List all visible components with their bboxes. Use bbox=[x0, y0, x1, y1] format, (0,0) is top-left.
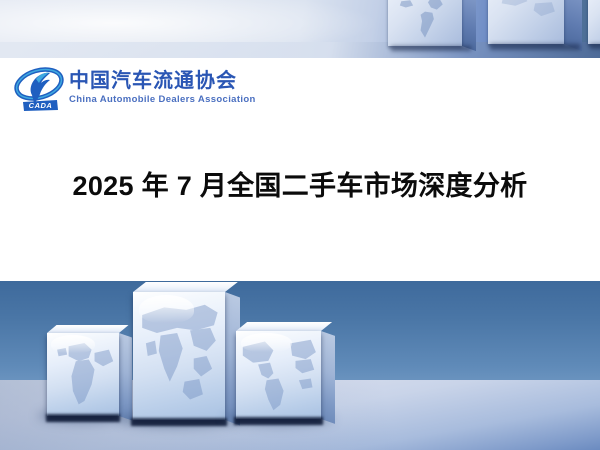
box-gloss-highlight bbox=[139, 295, 194, 323]
decorative-box-left bbox=[47, 333, 119, 416]
cada-abbr-badge: CADA bbox=[23, 100, 58, 111]
box-top-face bbox=[133, 282, 238, 292]
decorative-cube-top-left bbox=[388, 0, 462, 46]
organization-name-cn: 中国汽车流通协会 bbox=[69, 70, 256, 92]
box-gloss-highlight bbox=[241, 333, 292, 352]
decorative-box-right bbox=[236, 331, 321, 419]
cada-emblem-icon: CADA bbox=[14, 64, 64, 112]
organization-name-en: China Automobile Dealers Association bbox=[69, 94, 256, 106]
cube-side-face bbox=[462, 0, 476, 51]
box-base-edge bbox=[46, 414, 121, 422]
box-side-face bbox=[119, 333, 132, 420]
world-map-texture bbox=[488, 0, 564, 44]
organization-logo: CADA 中国汽车流通协会 China Automobile Dealers A… bbox=[14, 64, 256, 112]
decorative-box-center bbox=[133, 292, 225, 420]
cube-front-face bbox=[588, 0, 600, 44]
slide-body: CADA 中国汽车流通协会 China Automobile Dealers A… bbox=[0, 58, 600, 281]
presentation-slide: CADA 中国汽车流通协会 China Automobile Dealers A… bbox=[0, 0, 600, 450]
cube-shadow bbox=[490, 44, 580, 50]
organization-name-block: 中国汽车流通协会 China Automobile Dealers Associ… bbox=[69, 70, 256, 106]
box-top-face bbox=[47, 325, 129, 333]
cube-shadow bbox=[590, 44, 600, 49]
box-base-edge bbox=[234, 417, 322, 425]
box-side-face bbox=[321, 331, 335, 424]
box-gloss-highlight bbox=[51, 335, 94, 353]
world-map-texture bbox=[388, 0, 462, 46]
cada-emblem-svg: CADA bbox=[14, 64, 64, 112]
svg-text:CADA: CADA bbox=[29, 101, 53, 110]
slide-title: 2025 年 7 月全国二手车市场深度分析 bbox=[0, 164, 600, 203]
decorative-banner-top bbox=[0, 0, 600, 58]
cube-shadow bbox=[391, 46, 471, 51]
box-base-edge bbox=[131, 418, 227, 426]
box-top-face bbox=[236, 322, 332, 331]
decorative-cube-top-middle bbox=[488, 0, 564, 44]
decorative-cube-top-right bbox=[588, 0, 600, 44]
